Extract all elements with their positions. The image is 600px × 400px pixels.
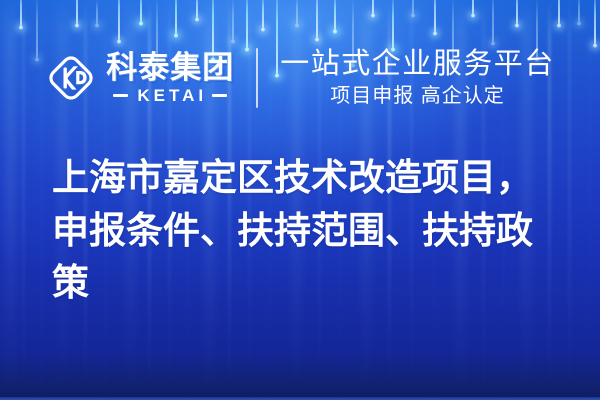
brand-name-en-row: KETAI <box>113 87 227 104</box>
ketai-diamond-kt-monogram-icon <box>45 52 97 104</box>
slogan-block: 一站式企业服务平台 项目申报 高企认定 <box>280 48 555 107</box>
dash-right-icon <box>212 94 227 97</box>
slogan-main: 一站式企业服务平台 <box>280 48 555 80</box>
brand-name-cn: 科泰集团 <box>106 52 234 85</box>
slogan-sub: 项目申报 高企认定 <box>330 84 505 108</box>
dash-left-icon <box>113 94 128 97</box>
promo-banner: 科泰集团 KETAI 一站式企业服务平台 项目申报 高企认定 上海市嘉定区技术改… <box>0 0 600 400</box>
brand-wordmark: 科泰集团 KETAI <box>106 52 234 104</box>
header-divider <box>256 48 258 108</box>
brand-name-en: KETAI <box>133 87 207 104</box>
banner-header: 科泰集团 KETAI 一站式企业服务平台 项目申报 高企认定 <box>0 44 600 112</box>
banner-headline: 上海市嘉定区技术改造项目，申报条件、扶持范围、扶持政策 <box>52 152 552 310</box>
brand-logo[interactable]: 科泰集团 KETAI <box>45 52 234 104</box>
